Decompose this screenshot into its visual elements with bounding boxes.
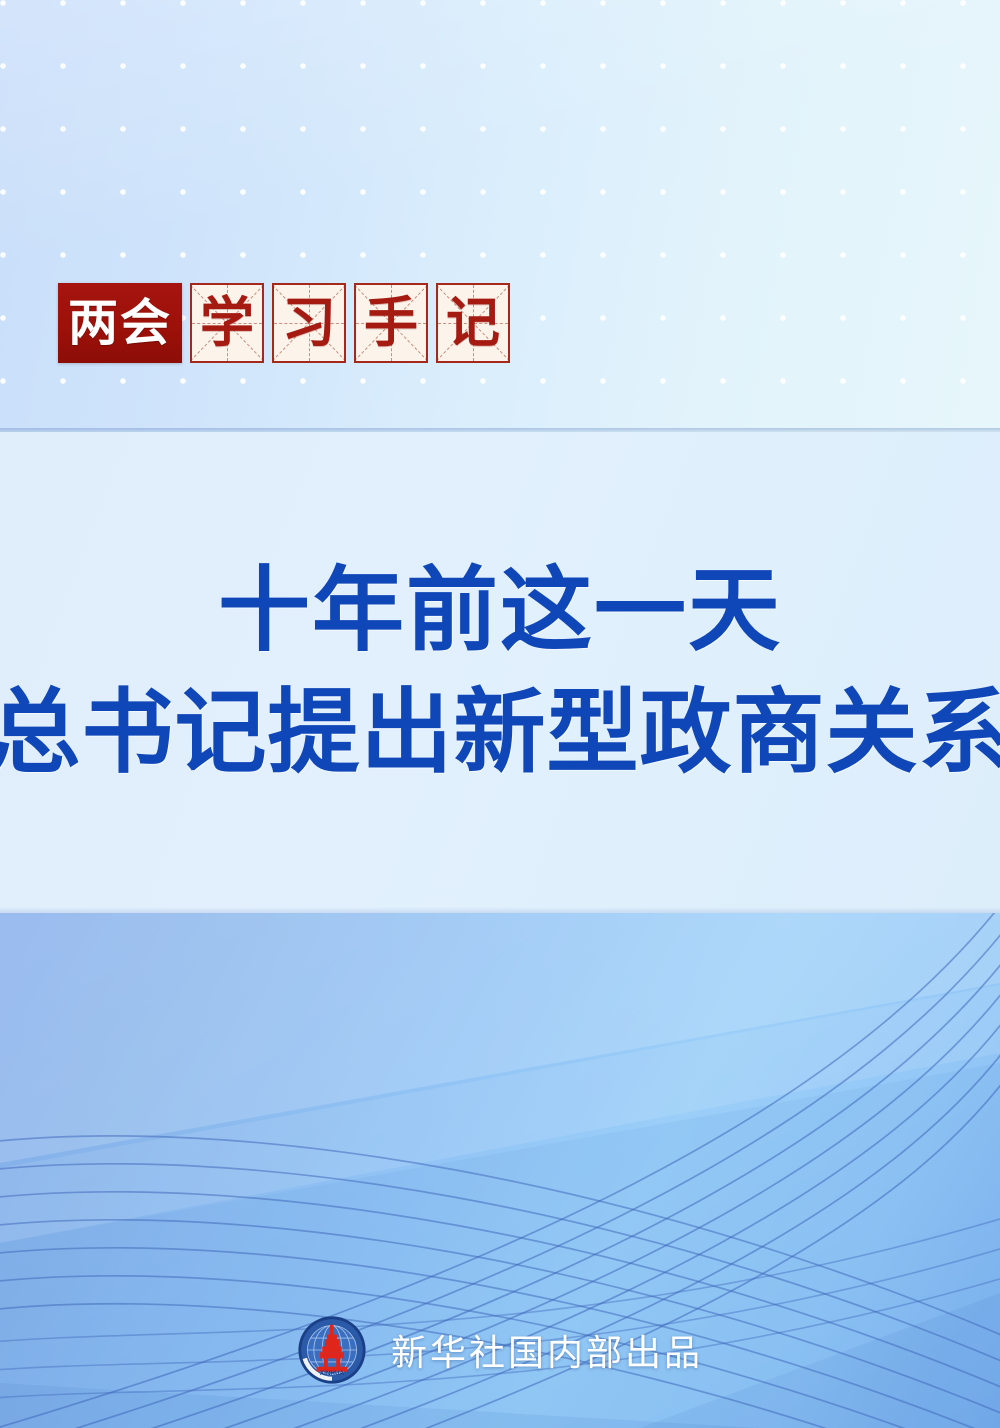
headline-line-2: 总书记提出新型政商关系 — [0, 684, 1000, 783]
badge-grid-cell-4: 记 — [436, 283, 510, 363]
badge-red-label: 两会 — [68, 298, 172, 348]
poster-root: 两会 学 习 手 记 十年前这一天 总书记提出新型政商关系 — [0, 0, 1000, 1428]
badge-cell-char-4: 记 — [438, 285, 508, 361]
footer-credit: XINHUA 新华社国内部出品 — [0, 1308, 1000, 1392]
badge-grid-cell-2: 习 — [272, 283, 346, 363]
badge-cell-char-3: 手 — [356, 285, 426, 361]
badge-cell-char-2: 习 — [274, 285, 344, 361]
badge-red-block: 两会 — [58, 283, 182, 363]
two-sessions-study-notes-badge: 两会 学 习 手 记 — [58, 283, 510, 363]
badge-cell-char-1: 学 — [192, 285, 262, 361]
headline-line-1: 十年前这一天 — [218, 562, 782, 661]
footer-credit-text: 新华社国内部出品 — [391, 1324, 703, 1376]
headline-block: 十年前这一天 总书记提出新型政商关系 — [0, 432, 1000, 913]
top-dot-pattern-band — [0, 0, 1000, 432]
xinhua-logo-icon: XINHUA — [297, 1315, 367, 1385]
badge-grid-cell-1: 学 — [190, 283, 264, 363]
xinhua-wordmark: XINHUA — [320, 1370, 345, 1377]
badge-grid-cell-3: 手 — [354, 283, 428, 363]
